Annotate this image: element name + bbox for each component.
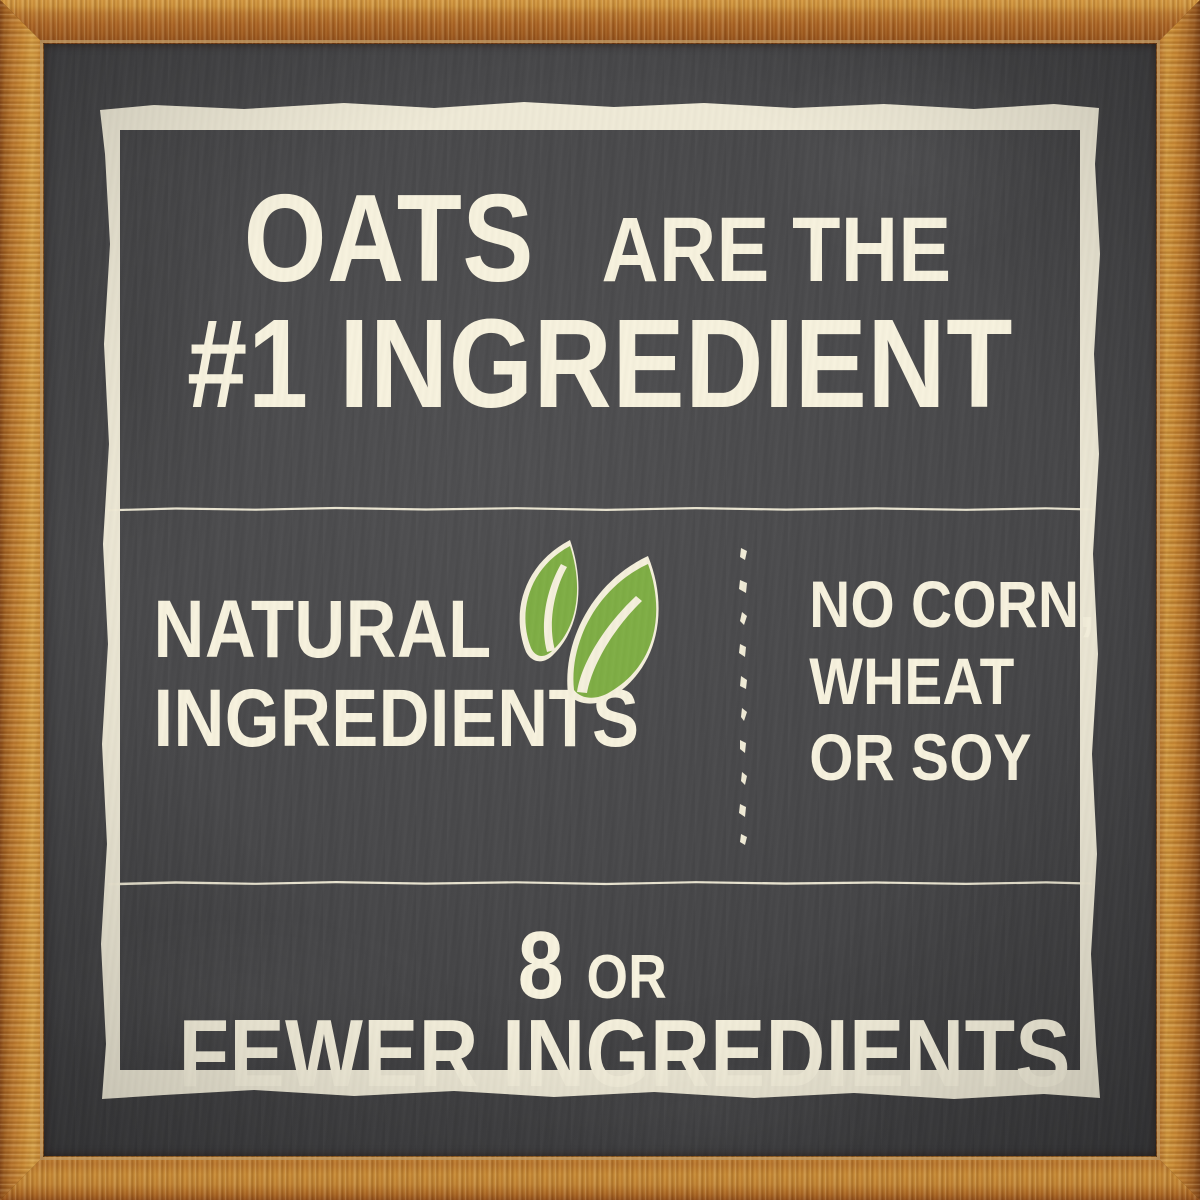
fewer-ingredients-label: FEWER INGREDIENTS [179, 1010, 1071, 1098]
dotted-divider [736, 546, 752, 846]
framed-chalkboard-poster: OATSARE THE #1 INGREDIENT NATURAL INGRED… [0, 0, 1200, 1200]
frame-rail-right [1156, 0, 1200, 1200]
headline-block: OATSARE THE #1 INGREDIENT [106, 182, 1094, 422]
connector-or: OR [587, 949, 668, 1006]
or-soy-label: OR SOY [809, 727, 1095, 788]
headline-words-are-the: ARE THE [602, 208, 952, 293]
poster-content: OATSARE THE #1 INGREDIENT NATURAL INGRED… [106, 104, 1094, 1096]
headline-line-2: #1 INGREDIENT [175, 306, 1025, 422]
fewer-ingredients-block: 8ORFEWER INGREDIENTS [106, 922, 1094, 1099]
frame-rail-bottom [0, 1156, 1200, 1200]
frame-rail-left [0, 0, 44, 1200]
leaf-large [567, 556, 658, 704]
frame-rail-top [0, 0, 1200, 44]
chalk-divider-top [106, 504, 1094, 512]
ingredient-count: 8 [518, 922, 564, 1010]
no-corn-label: NO CORN, [809, 574, 1095, 635]
chalk-divider-bottom [106, 878, 1094, 886]
middle-band: NATURAL INGREDIENTS [106, 534, 1094, 864]
two-leaves-icon [498, 534, 708, 714]
headline-line-1: OATSARE THE [106, 182, 1094, 296]
headline-word-oats: OATS [243, 182, 533, 296]
leaf-small [520, 540, 579, 661]
wheat-label: WHEAT [809, 651, 1095, 712]
chalkboard-surface: OATSARE THE #1 INGREDIENT NATURAL INGRED… [44, 44, 1156, 1156]
no-corn-wheat-soy-text-block: NO CORN, WHEAT OR SOY [786, 574, 1119, 788]
